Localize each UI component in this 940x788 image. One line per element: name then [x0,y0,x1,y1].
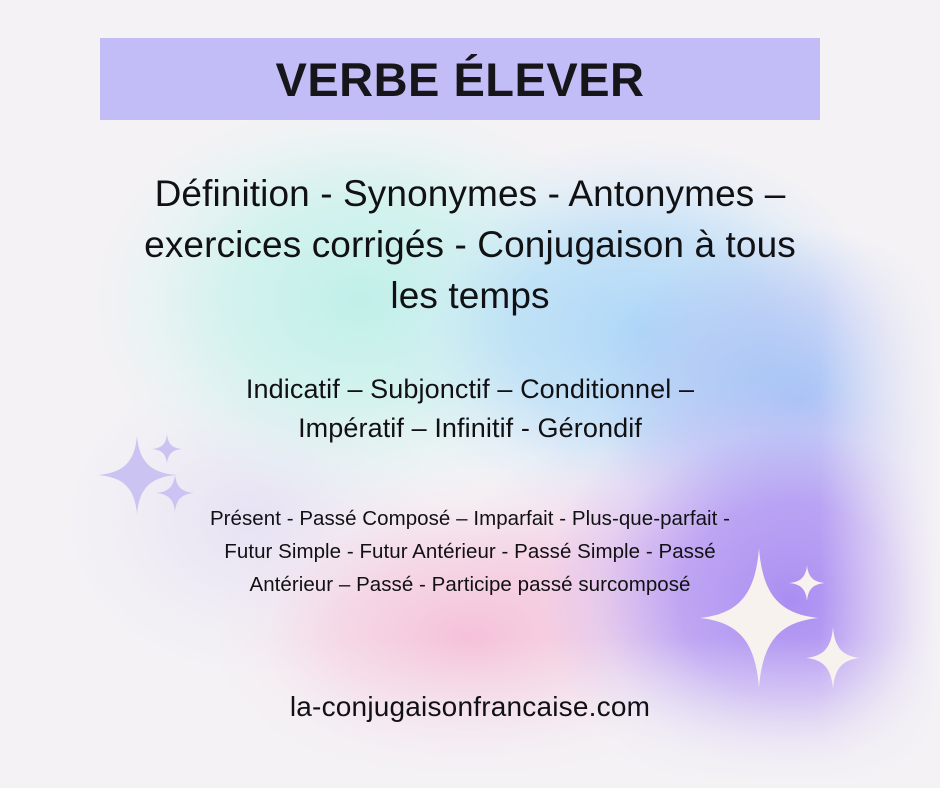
subtitle-line-2: exercices corrigés - Conjugaison à tous [0,219,940,270]
page-title: VERBE ÉLEVER [275,52,644,107]
tenses-line-2: Futur Simple - Futur Antérieur - Passé S… [0,535,940,568]
tenses-block: Présent - Passé Composé – Imparfait - Pl… [0,502,940,601]
subtitle-line-1: Définition - Synonymes - Antonymes – [0,168,940,219]
poster-canvas: VERBE ÉLEVER Définition - Synonymes - An… [0,0,940,788]
tenses-line-1: Présent - Passé Composé – Imparfait - Pl… [0,502,940,535]
title-banner: VERBE ÉLEVER [100,38,820,120]
website-url: la-conjugaisonfrancaise.com [0,688,940,726]
sparkle-icon-right-small-bottom [806,627,860,689]
moods-line-2: Impératif – Infinitif - Gérondif [0,409,940,448]
moods-line-1: Indicatif – Subjonctif – Conditionnel – [0,370,940,409]
subtitle-line-3: les temps [0,270,940,321]
moods-block: Indicatif – Subjonctif – Conditionnel – … [0,370,940,448]
tenses-line-3: Antérieur – Passé - Participe passé surc… [0,568,940,601]
subtitle-block: Définition - Synonymes - Antonymes – exe… [0,168,940,321]
